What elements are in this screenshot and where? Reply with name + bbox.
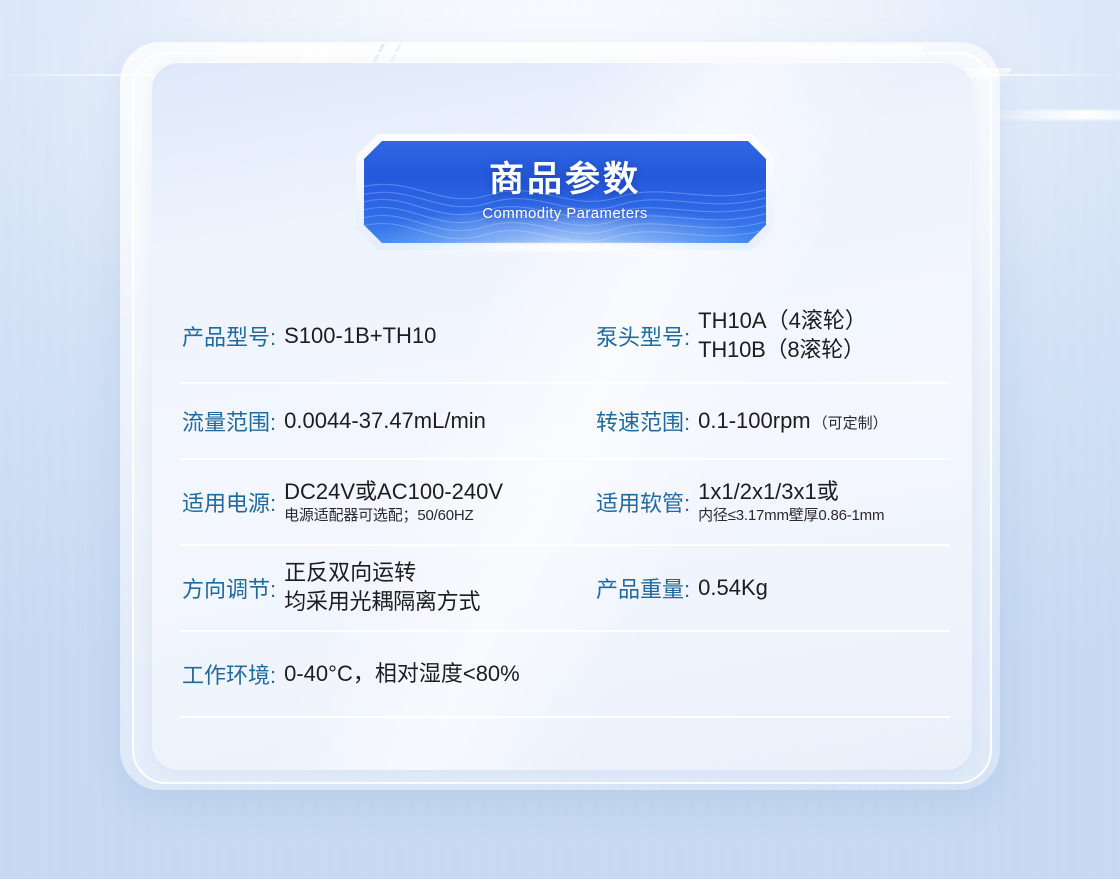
spec-label: 方向调节: [182,572,276,604]
spec-value: S100-1B+TH10 [284,322,436,350]
spec-label: 转速范围: [596,405,690,437]
spec-label: 产品重量: [596,572,690,604]
banner-title-en: Commodity Parameters [482,205,648,222]
spec-label: 泵头型号: [596,320,690,352]
spec-cell-pump-head-model: 泵头型号: TH10A（4滚轮） TH10B（8滚轮） [592,307,950,364]
spec-value: 正反双向运转 均采用光耦隔离方式 [284,559,480,616]
spec-label: 流量范围: [182,405,276,437]
spec-cell-applicable-tubing: 适用软管: 1x1/2x1/3x1或 内径≤3.17mm壁厚0.86-1mm [592,478,950,525]
spec-cell-power-supply: 适用电源: DC24V或AC100-240V 电源适配器可选配；50/60HZ [180,478,592,525]
spec-cell-product-model: 产品型号: S100-1B+TH10 [180,320,592,352]
banner-bottom-glow [346,243,784,252]
spec-value-line2: 均采用光耦隔离方式 [284,588,480,617]
spec-value: 0.54Kg [698,574,768,602]
spec-cell-working-environment: 工作环境: 0-40°C，相对湿度<80% [180,658,950,690]
spec-value-note: （可定制） [813,415,888,432]
page-root: 商品参数 Commodity Parameters 产品型号: S100-1B+… [0,0,1120,879]
spec-value-line2: 内径≤3.17mm壁厚0.86-1mm [698,506,884,525]
spec-value: DC24V或AC100-240V 电源适配器可选配；50/60HZ [284,478,503,525]
specifications-table: 产品型号: S100-1B+TH10 泵头型号: TH10A（4滚轮） TH10… [180,290,950,718]
banner-title-cn: 商品参数 [489,162,641,197]
spec-value: 0.1-100rpm（可定制） [698,407,888,435]
banner-plate: 商品参数 Commodity Parameters [364,141,766,243]
table-row: 产品型号: S100-1B+TH10 泵头型号: TH10A（4滚轮） TH10… [180,290,950,384]
table-row: 流量范围: 0.0044-37.47mL/min 转速范围: 0.1-100rp… [180,384,950,460]
spec-value: 0-40°C，相对湿度<80% [284,660,520,688]
spec-cell-product-weight: 产品重量: 0.54Kg [592,572,950,604]
spec-label: 工作环境: [182,658,276,690]
table-row: 适用电源: DC24V或AC100-240V 电源适配器可选配；50/60HZ … [180,460,950,546]
banner: 商品参数 Commodity Parameters [356,134,774,250]
spec-value-line2: 电源适配器可选配；50/60HZ [284,506,503,525]
spec-label: 产品型号: [182,320,276,352]
spec-value: TH10A（4滚轮） TH10B（8滚轮） [698,307,867,364]
spec-value: 0.0044-37.47mL/min [284,407,486,435]
table-row: 工作环境: 0-40°C，相对湿度<80% [180,632,950,718]
spec-cell-speed-range: 转速范围: 0.1-100rpm（可定制） [592,405,950,437]
spec-value-line1: 正反双向运转 [284,560,416,585]
spec-value-main: 0.1-100rpm [698,408,811,433]
banner-text-group: 商品参数 Commodity Parameters [364,141,766,243]
spec-value: 1x1/2x1/3x1或 内径≤3.17mm壁厚0.86-1mm [698,478,884,525]
spec-label: 适用软管: [596,486,690,518]
spec-value-line1: DC24V或AC100-240V [284,479,503,504]
spec-value-line1: TH10A（4滚轮） [698,308,867,333]
spec-value-line1: 1x1/2x1/3x1或 [698,479,839,504]
spec-value-line2: TH10B（8滚轮） [698,336,867,365]
spec-cell-flow-range: 流量范围: 0.0044-37.47mL/min [180,405,592,437]
spec-cell-direction-control: 方向调节: 正反双向运转 均采用光耦隔离方式 [180,559,592,616]
spec-label: 适用电源: [182,486,276,518]
table-row: 方向调节: 正反双向运转 均采用光耦隔离方式 产品重量: 0.54Kg [180,546,950,632]
